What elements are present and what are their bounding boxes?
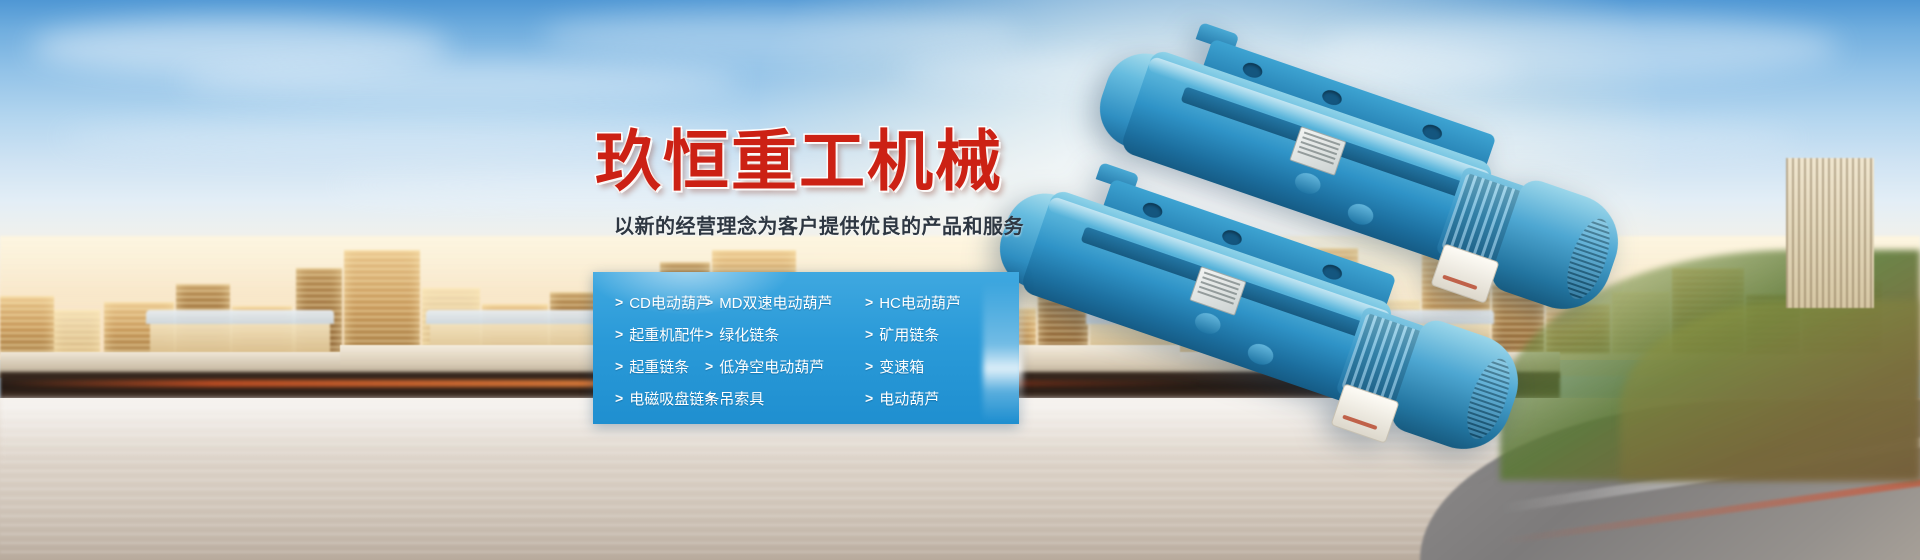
- product-link[interactable]: >低净空电动葫芦: [705, 356, 865, 377]
- product-link[interactable]: >吊索具: [705, 388, 865, 409]
- product-link-label: 起重机配件: [629, 324, 704, 345]
- product-link-label: 矿用链条: [879, 324, 939, 345]
- chevron-right-icon: >: [615, 390, 623, 406]
- product-link[interactable]: >矿用链条: [865, 324, 1015, 345]
- chevron-right-icon: >: [705, 326, 713, 342]
- product-link-label: 吊索具: [719, 388, 764, 409]
- chevron-right-icon: >: [615, 358, 623, 374]
- low-building-row: [1320, 320, 1490, 354]
- product-links-row: >CD电动葫芦>MD双速电动葫芦>HC电动葫芦: [593, 286, 1019, 318]
- product-link[interactable]: >绿化链条: [705, 324, 865, 345]
- banner-subline: 以新的经营理念为客户提供优良的产品和服务: [614, 217, 1024, 237]
- building: [1038, 258, 1088, 354]
- product-link[interactable]: >起重机配件: [593, 324, 705, 345]
- product-link[interactable]: >MD双速电动葫芦: [705, 292, 865, 313]
- low-building-row: [150, 320, 330, 354]
- chevron-right-icon: >: [865, 390, 873, 406]
- product-links-list: >CD电动葫芦>MD双速电动葫芦>HC电动葫芦>起重机配件>绿化链条>矿用链条>…: [593, 272, 1019, 424]
- product-link[interactable]: >HC电动葫芦: [865, 292, 1015, 313]
- chevron-right-icon: >: [615, 294, 623, 310]
- product-links-row: >起重机配件>绿化链条>矿用链条: [593, 318, 1019, 350]
- chevron-right-icon: >: [705, 358, 713, 374]
- chevron-right-icon: >: [705, 294, 713, 310]
- chevron-right-icon: >: [615, 326, 623, 342]
- product-links-row: >电磁吸盘链条>吊索具>电动葫芦: [593, 382, 1019, 414]
- product-link-label: 绿化链条: [719, 324, 779, 345]
- product-link[interactable]: >起重链条: [593, 356, 705, 377]
- chevron-right-icon: >: [865, 294, 873, 310]
- chevron-right-icon: >: [705, 390, 713, 406]
- product-link[interactable]: >电磁吸盘链条: [593, 388, 705, 409]
- building: [0, 296, 54, 354]
- product-link-label: HC电动葫芦: [879, 292, 961, 313]
- product-link-label: 电动葫芦: [879, 388, 939, 409]
- building: [54, 310, 100, 354]
- chevron-right-icon: >: [865, 358, 873, 374]
- product-link[interactable]: >变速箱: [865, 356, 1015, 377]
- product-links-panel: >CD电动葫芦>MD双速电动葫芦>HC电动葫芦>起重机配件>绿化链条>矿用链条>…: [593, 272, 1019, 424]
- chevron-right-icon: >: [865, 326, 873, 342]
- product-links-row: >起重链条>低净空电动葫芦>变速箱: [593, 350, 1019, 382]
- high-rise-tower: [1786, 158, 1874, 308]
- product-link-label: 变速箱: [879, 356, 924, 377]
- product-link-label: 低净空电动葫芦: [719, 356, 824, 377]
- banner-headline: 玖恒重工机械: [595, 128, 1003, 194]
- building: [344, 250, 420, 354]
- product-link-label: 起重链条: [629, 356, 689, 377]
- product-link[interactable]: >CD电动葫芦: [593, 292, 705, 313]
- product-link-label: MD双速电动葫芦: [719, 292, 832, 313]
- promo-banner: 玖恒重工机械 以新的经营理念为客户提供优良的产品和服务 >CD电动葫芦>MD双速…: [0, 0, 1920, 560]
- product-link[interactable]: >电动葫芦: [865, 388, 1015, 409]
- product-link-label: CD电动葫芦: [629, 292, 711, 313]
